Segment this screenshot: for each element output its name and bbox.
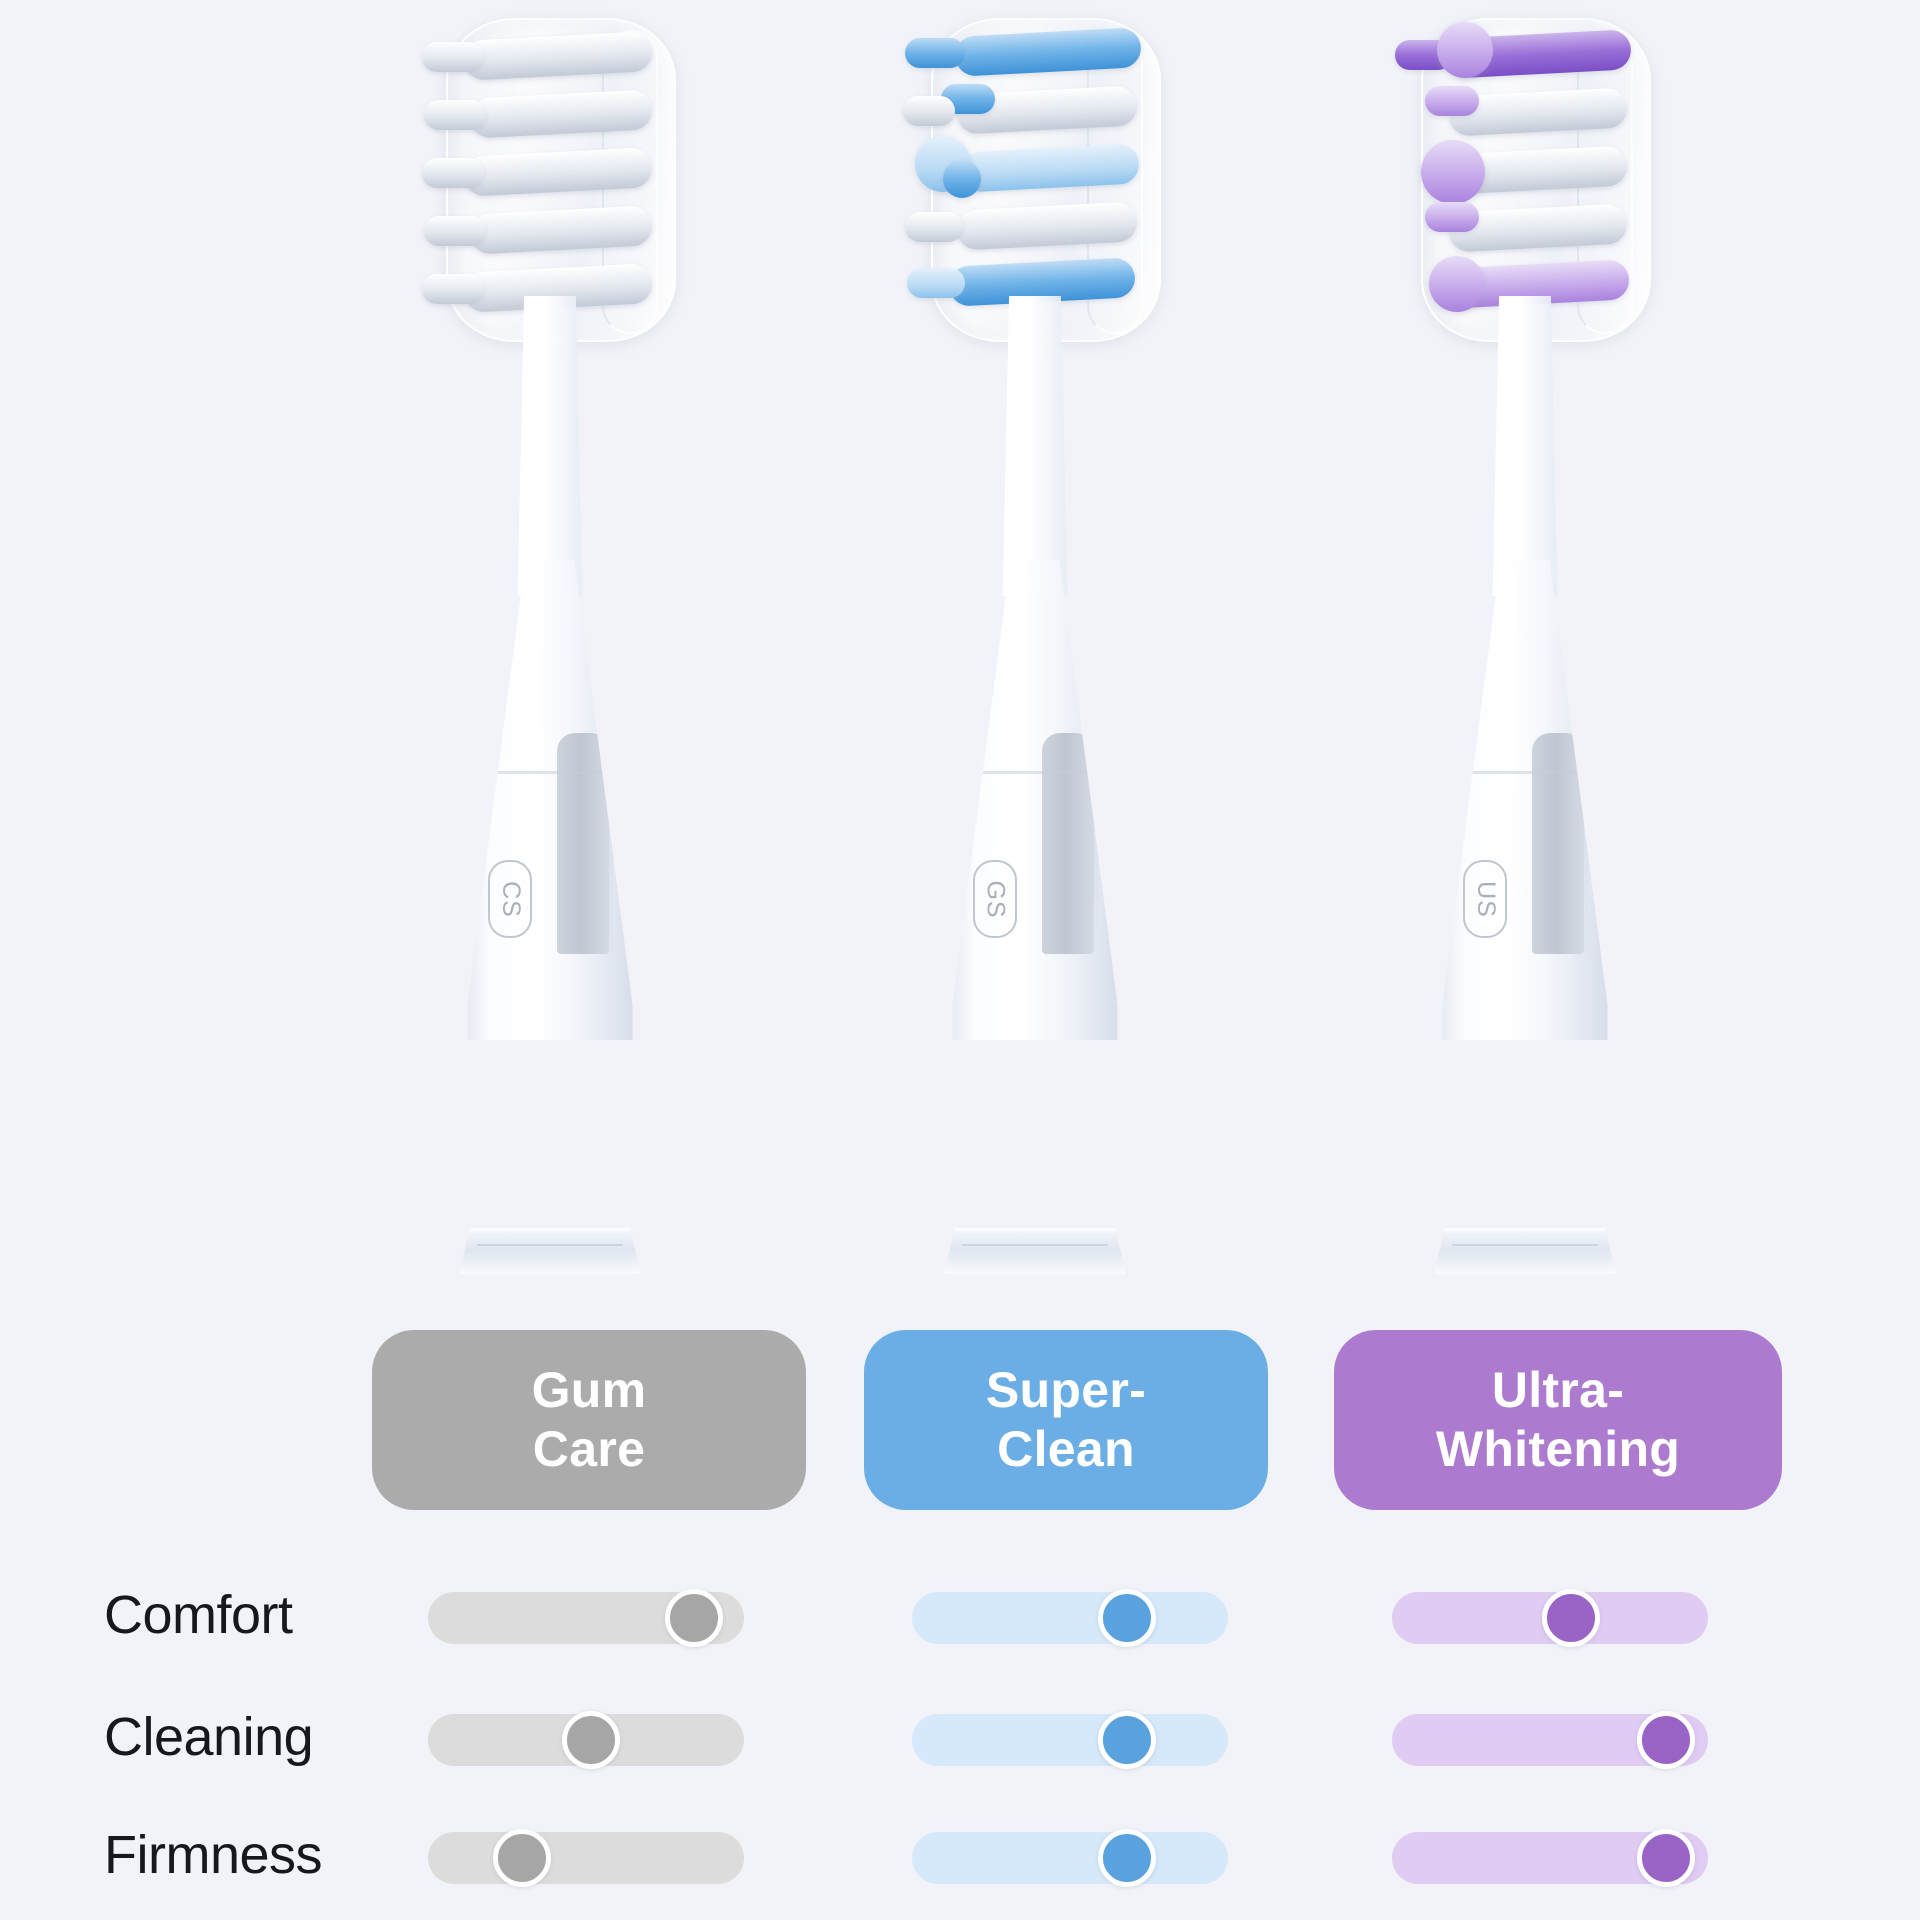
bristle-pom-accent [1421, 140, 1485, 204]
brush-handle: laifen GS [947, 560, 1123, 1040]
handle-grip [1532, 733, 1584, 954]
slider-cleaning-super-clean[interactable] [912, 1714, 1228, 1766]
pill-label-line1: Ultra- [1436, 1361, 1680, 1420]
model-code-text: US [1470, 881, 1499, 918]
bristle-bar [469, 89, 653, 138]
category-pill-gum-care[interactable]: Gum Care [372, 1330, 806, 1510]
brush-head-gum-care [416, 18, 684, 338]
product-image-row: laifen CS [0, 0, 1920, 1300]
brush-head-super-clean [901, 18, 1169, 338]
pill-label-line1: Gum [532, 1361, 647, 1420]
bristle-tuft-accent [905, 38, 965, 68]
slider-knob[interactable] [562, 1711, 620, 1769]
model-code-text: CS [495, 881, 524, 918]
handle-collar [1444, 771, 1606, 774]
brush-handle: laifen US [1437, 560, 1613, 1040]
handle-collar [954, 771, 1116, 774]
bristle-field [901, 18, 1151, 338]
slider-cleaning-ultra-whitening[interactable] [1392, 1714, 1708, 1766]
brand-wordmark: laifen [454, 678, 490, 758]
slider-knob[interactable] [493, 1829, 551, 1887]
comparison-page: laifen CS [0, 0, 1920, 1920]
model-code-text: GS [981, 880, 1010, 918]
slider-cleaning-gum-care[interactable] [428, 1714, 744, 1766]
bristle-bar-accent [954, 27, 1142, 77]
bristle-tuft [424, 216, 486, 246]
bristle-tuft [905, 212, 963, 242]
handle-collar [469, 771, 631, 774]
bristle-tuft-accent [907, 268, 965, 298]
bristle-pom-accent [1429, 256, 1485, 312]
slider-comfort-ultra-whitening[interactable] [1392, 1592, 1708, 1644]
slider-knob[interactable] [1637, 1711, 1695, 1769]
bristle-tuft [424, 100, 486, 130]
bristle-tuft-accent [1425, 202, 1479, 232]
handle-edge [1093, 579, 1098, 982]
bristle-bar [463, 147, 653, 197]
model-code-badge: GS [973, 860, 1017, 938]
slider-firmness-ultra-whitening[interactable] [1392, 1832, 1708, 1884]
pill-label-line2: Care [532, 1420, 647, 1479]
brand-wordmark: laifen [1429, 678, 1465, 758]
handle-base [459, 1228, 641, 1274]
bristle-bar [469, 205, 653, 254]
bristle-tuft-accent [1425, 86, 1479, 116]
handle-grip [557, 733, 609, 954]
handle-base [944, 1228, 1126, 1274]
bristle-tuft [422, 274, 484, 304]
pill-label-line2: Clean [986, 1420, 1146, 1479]
bristle-tuft [422, 158, 484, 188]
attribute-row-firmness: Firmness [0, 1820, 1920, 1898]
attribute-label: Comfort [104, 1584, 293, 1646]
slider-comfort-super-clean[interactable] [912, 1592, 1228, 1644]
handle-edge [1583, 579, 1588, 982]
handle-highlight [1019, 570, 1028, 983]
bristle-pom-accent [1437, 22, 1493, 78]
brush-handle: laifen CS [462, 560, 638, 1040]
bristle-tuft [903, 96, 955, 126]
category-pill-row: Gum Care Super- Clean Ultra- Whitening [0, 1330, 1920, 1515]
slider-knob[interactable] [665, 1589, 723, 1647]
product-super-clean[interactable]: laifen GS [855, 0, 1215, 1290]
model-code-badge: US [1463, 860, 1507, 938]
handle-base [1434, 1228, 1616, 1274]
bristle-field [416, 18, 666, 338]
product-ultra-whitening[interactable]: laifen US [1345, 0, 1705, 1290]
handle-edge [608, 579, 613, 982]
bristle-field [1391, 18, 1641, 338]
bristle-tuft [422, 42, 484, 72]
slider-knob[interactable] [1098, 1829, 1156, 1887]
pill-label-line2: Whitening [1436, 1420, 1680, 1479]
handle-highlight [534, 570, 543, 983]
slider-firmness-super-clean[interactable] [912, 1832, 1228, 1884]
bristle-bar [956, 201, 1138, 250]
brush-head-ultra-whitening [1391, 18, 1659, 338]
model-code-badge: CS [488, 860, 532, 938]
category-pill-ultra-whitening[interactable]: Ultra- Whitening [1334, 1330, 1782, 1510]
bristle-pom-accent [943, 160, 981, 198]
bristle-bar-accent [960, 143, 1140, 192]
slider-knob[interactable] [1098, 1711, 1156, 1769]
slider-knob[interactable] [1098, 1589, 1156, 1647]
brand-wordmark: laifen [939, 678, 975, 758]
attribute-comparison-table: Comfort Cleaning Firmness [0, 1580, 1920, 1920]
attribute-label: Cleaning [104, 1706, 313, 1768]
handle-grip [1042, 733, 1094, 954]
product-gum-care[interactable]: laifen CS [370, 0, 730, 1290]
attribute-label: Firmness [104, 1824, 322, 1886]
category-pill-super-clean[interactable]: Super- Clean [864, 1330, 1268, 1510]
bristle-bar [463, 31, 653, 81]
slider-firmness-gum-care[interactable] [428, 1832, 744, 1884]
slider-comfort-gum-care[interactable] [428, 1592, 744, 1644]
slider-knob[interactable] [1637, 1829, 1695, 1887]
attribute-row-comfort: Comfort [0, 1580, 1920, 1658]
slider-knob[interactable] [1542, 1589, 1600, 1647]
attribute-row-cleaning: Cleaning [0, 1702, 1920, 1780]
handle-highlight [1509, 570, 1518, 983]
pill-label-line1: Super- [986, 1361, 1146, 1420]
